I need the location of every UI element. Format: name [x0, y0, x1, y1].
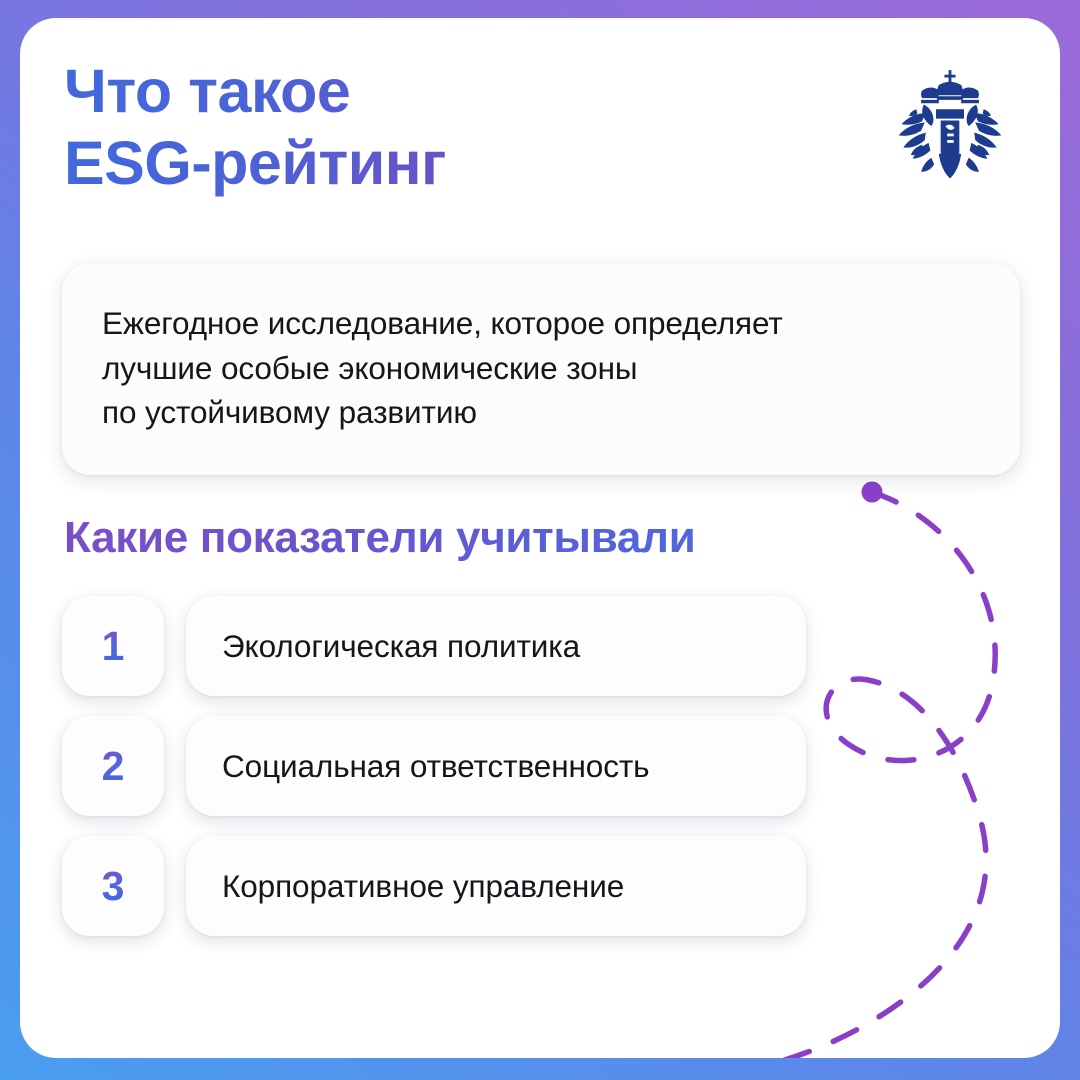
- criteria-list: 1 Экологическая политика 2 Социальная от…: [62, 596, 862, 956]
- criteria-pill: Социальная ответственность: [186, 716, 806, 816]
- list-item: 1 Экологическая политика: [62, 596, 862, 696]
- criteria-number-badge: 1: [62, 596, 164, 696]
- criteria-number-badge: 3: [62, 836, 164, 936]
- summary-card: Ежегодное исследование, которое определя…: [62, 263, 1020, 475]
- criteria-number-badge: 2: [62, 716, 164, 816]
- criteria-label: Экологическая политика: [222, 628, 580, 665]
- header: Что такое ESG-рейтинг: [64, 56, 1020, 216]
- criteria-pill: Корпоративное управление: [186, 836, 806, 936]
- russian-double-headed-eagle-emblem: [894, 68, 1006, 186]
- criteria-number: 3: [102, 866, 125, 907]
- summary-text: Ежегодное исследование, которое определя…: [102, 301, 980, 435]
- list-item: 2 Социальная ответственность: [62, 716, 862, 816]
- content-panel: Что такое ESG-рейтинг: [20, 18, 1060, 1058]
- criteria-heading: Какие показатели учитывали: [64, 513, 695, 563]
- list-item: 3 Корпоративное управление: [62, 836, 862, 936]
- criteria-label: Социальная ответственность: [222, 748, 650, 785]
- criteria-label: Корпоративное управление: [222, 868, 624, 905]
- criteria-number: 1: [102, 626, 125, 667]
- criteria-number: 2: [102, 746, 125, 787]
- curve-start-dot: [862, 482, 883, 503]
- slide-canvas: Что такое ESG-рейтинг: [0, 0, 1080, 1080]
- page-title: Что такое ESG-рейтинг: [64, 56, 704, 200]
- criteria-pill: Экологическая политика: [186, 596, 806, 696]
